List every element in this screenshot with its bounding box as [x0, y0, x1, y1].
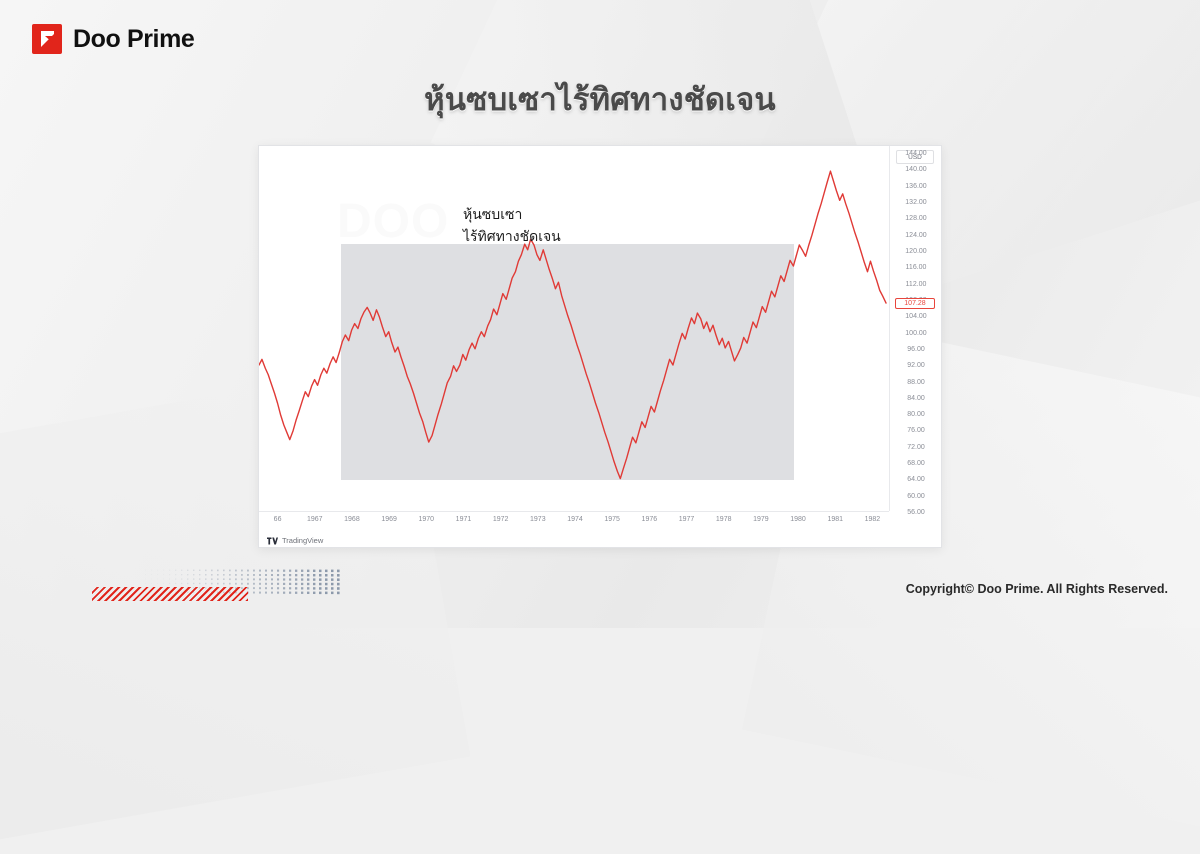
chart-price-series	[259, 146, 889, 511]
last-price-label[interactable]: 107.28	[895, 298, 935, 309]
time-tick: 1968	[344, 516, 360, 523]
price-tick: 112.00	[890, 281, 942, 288]
doo-prime-flag-icon	[32, 24, 62, 54]
decorative-graphic	[92, 569, 342, 605]
price-tick: 124.00	[890, 232, 942, 239]
time-tick: 1973	[530, 516, 546, 523]
time-tick: 1980	[790, 516, 806, 523]
chart-annotation: หุ้นซบเซา ไร้ทิศทางชัดเจน	[463, 204, 561, 247]
price-tick: 128.00	[890, 215, 942, 222]
price-tick: 144.00	[890, 150, 942, 157]
price-tick: 72.00	[890, 444, 942, 451]
time-tick: 1970	[418, 516, 434, 523]
price-tick: 132.00	[890, 199, 942, 206]
flag-glyph-icon	[40, 30, 55, 48]
chart-annotation-line1: หุ้นซบเซา	[463, 204, 561, 226]
brand-logo: Doo Prime	[32, 24, 194, 54]
price-tick: 120.00	[890, 248, 942, 255]
time-scale-axis[interactable]: 6619671968196919701971197219731974197519…	[259, 511, 889, 531]
price-tick: 100.00	[890, 330, 942, 337]
tradingview-label: TradingView	[282, 536, 323, 545]
time-tick: 1967	[307, 516, 323, 523]
time-tick: 1977	[679, 516, 695, 523]
time-tick: 1981	[827, 516, 843, 523]
price-scale-axis[interactable]: USD 144.00140.00136.00132.00128.00124.00…	[889, 146, 941, 511]
time-tick: 1972	[493, 516, 509, 523]
time-tick: 1976	[642, 516, 658, 523]
chart-annotation-line2: ไร้ทิศทางชัดเจน	[463, 226, 561, 248]
price-tick: 60.00	[890, 493, 942, 500]
tradingview-attribution[interactable]: TradingView	[267, 536, 323, 545]
time-tick: 1982	[865, 516, 881, 523]
price-tick: 64.00	[890, 476, 942, 483]
copyright-text: Copyright© Doo Prime. All Rights Reserve…	[906, 582, 1168, 596]
chart-plot-area: DOO หุ้นซบเซา ไร้ทิศทางชัดเจน	[259, 146, 889, 511]
price-tick: 104.00	[890, 313, 942, 320]
page-title: หุ้นซบเซาไร้ทิศทางชัดเจน	[0, 74, 1200, 124]
time-tick: 1969	[381, 516, 397, 523]
price-tick: 92.00	[890, 362, 942, 369]
price-tick: 136.00	[890, 183, 942, 190]
price-tick: 76.00	[890, 427, 942, 434]
price-tick: 56.00	[890, 509, 942, 516]
time-tick: 1974	[567, 516, 583, 523]
stripe-bar-icon	[92, 587, 248, 601]
tradingview-logo-icon	[267, 537, 278, 545]
price-tick: 84.00	[890, 395, 942, 402]
time-tick: 1978	[716, 516, 732, 523]
time-tick: 1975	[604, 516, 620, 523]
price-tick: 140.00	[890, 166, 942, 173]
time-tick: 1971	[456, 516, 472, 523]
brand-name: Doo Prime	[73, 25, 194, 54]
time-tick: 1979	[753, 516, 769, 523]
chart-card: DOO หุ้นซบเซา ไร้ทิศทางชัดเจน USD 144.00…	[258, 145, 942, 548]
price-tick: 116.00	[890, 264, 942, 271]
price-tick: 88.00	[890, 379, 942, 386]
price-tick: 68.00	[890, 460, 942, 467]
time-tick: 66	[274, 516, 282, 523]
price-tick: 96.00	[890, 346, 942, 353]
price-tick: 80.00	[890, 411, 942, 418]
